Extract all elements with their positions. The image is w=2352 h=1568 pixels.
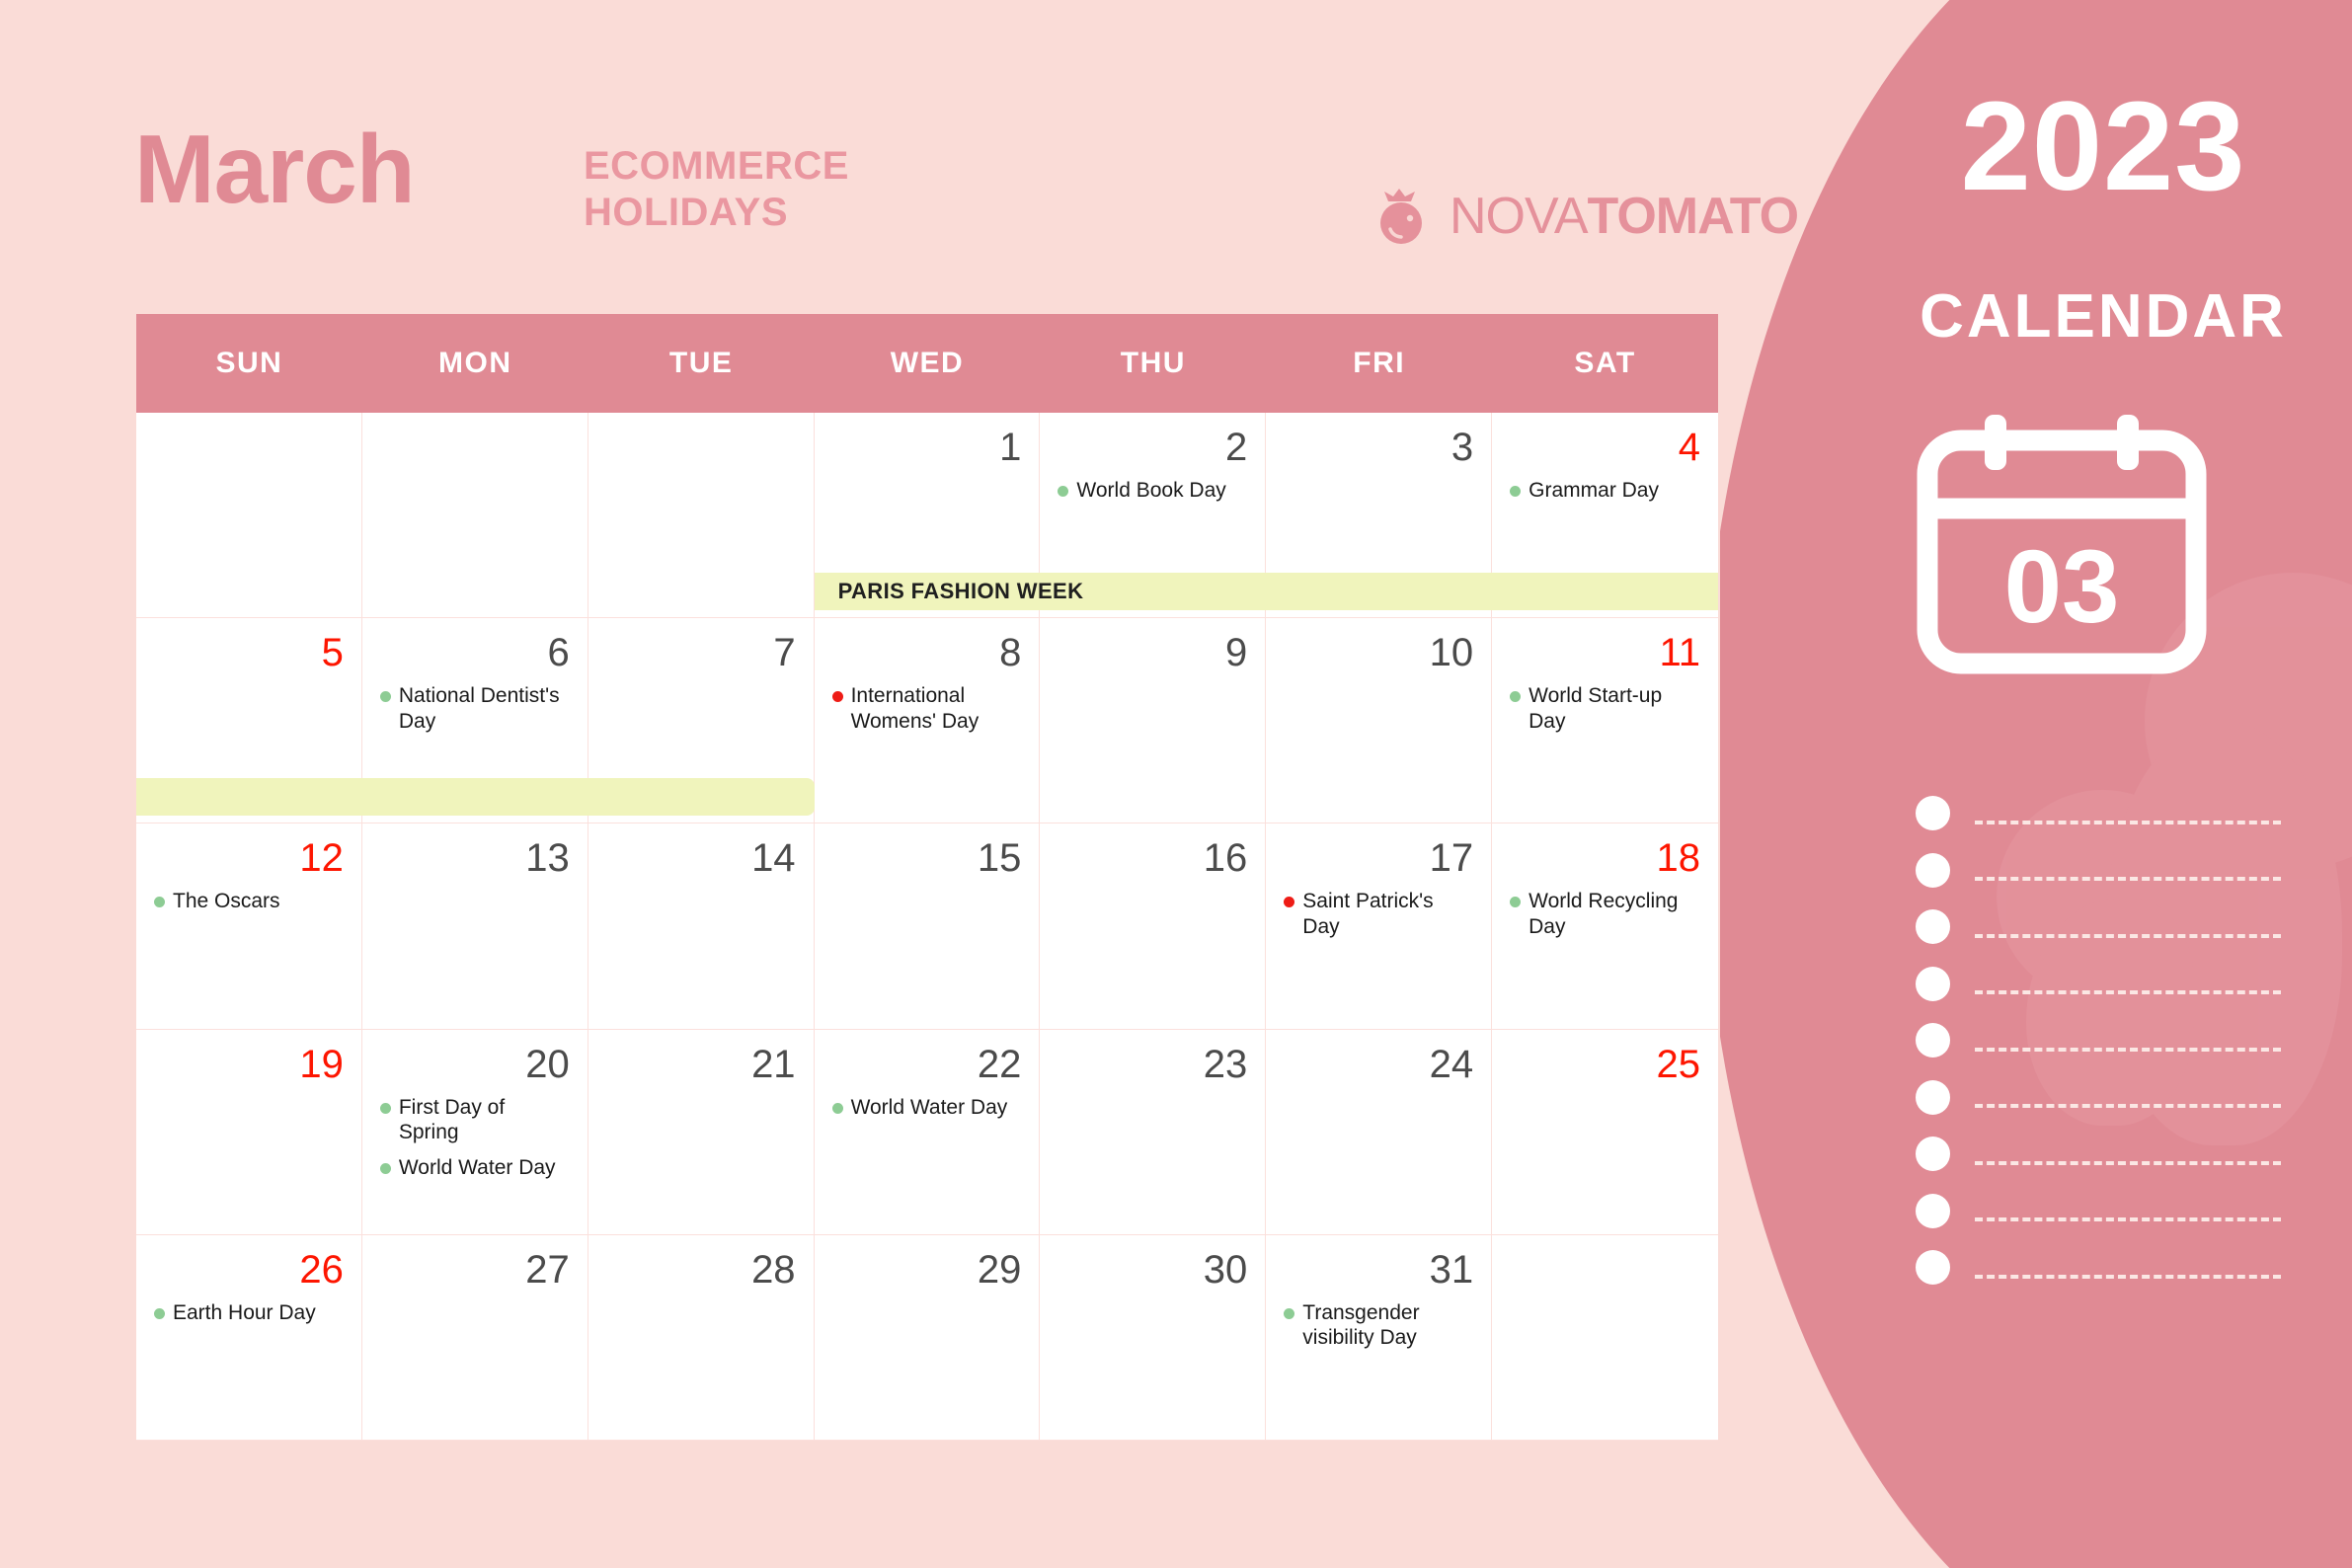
checkbox-circle-icon[interactable] [1916,796,1950,830]
weekday-header-row: SUN MON TUE WED THU FRI SAT [136,314,1718,413]
calendar-day-cell[interactable]: 23 [1040,1030,1266,1235]
weekday-mon: MON [362,314,588,413]
brand-text: NOVATOMATO [1450,191,1798,242]
checklist-item[interactable] [1916,899,2281,956]
day-number: 27 [380,1249,570,1291]
checklist-line [1975,1161,2281,1165]
checklist-line [1975,877,2281,881]
calendar-day-cell[interactable]: 30 [1040,1235,1266,1441]
event-bullet-icon [1510,897,1521,907]
event-label: World Water Day [399,1155,556,1181]
calendar-day-cell[interactable]: 12The Oscars [136,823,362,1029]
checklist-item[interactable] [1916,1239,2281,1296]
calendar-event[interactable]: Earth Hour Day [154,1300,344,1326]
page-subtitle: ECOMMERCE HOLIDAYS [584,143,849,236]
subtitle-line-2: HOLIDAYS [584,190,849,236]
checklist-line [1975,821,2281,824]
day-number: 8 [832,632,1022,673]
event-label: Earth Hour Day [173,1300,316,1326]
weekday-thu: THU [1040,314,1266,413]
day-number: 16 [1058,837,1247,879]
event-label: World Book Day [1076,478,1225,504]
checkbox-circle-icon[interactable] [1916,1080,1950,1115]
day-number: 25 [1510,1044,1700,1085]
day-number: 7 [606,632,796,673]
day-number: 20 [380,1044,570,1085]
calendar-event[interactable]: World Water Day [380,1155,570,1181]
calendar-week-row: 1920First Day of SpringWorld Water Day21… [136,1030,1718,1235]
day-number: 1 [832,427,1022,468]
event-label: World Start-up Day [1529,683,1700,734]
calendar-icon-month-number: 03 [2004,529,2120,645]
event-label: World Water Day [851,1095,1008,1121]
calendar-empty-cell [362,413,588,618]
event-bullet-icon [380,1103,391,1114]
day-number: 6 [380,632,570,673]
event-bullet-icon [1058,486,1068,497]
day-number: 18 [1510,837,1700,879]
event-bullet-icon [1510,486,1521,497]
checklist-line [1975,990,2281,994]
event-bullet-icon [380,691,391,702]
calendar-day-cell[interactable]: 28 [588,1235,815,1441]
day-number: 24 [1284,1044,1473,1085]
event-label: National Dentist's Day [399,683,570,734]
checkbox-circle-icon[interactable] [1916,1137,1950,1171]
event-bullet-icon [832,691,843,702]
brand-name-bold: TOMATO [1588,188,1799,245]
day-number: 11 [1510,632,1700,673]
checkbox-circle-icon[interactable] [1916,1194,1950,1228]
calendar-day-cell[interactable]: 26Earth Hour Day [136,1235,362,1441]
checklist-item[interactable] [1916,1126,2281,1183]
day-events: National Dentist's Day [380,683,570,734]
day-number: 21 [606,1044,796,1085]
checkbox-circle-icon[interactable] [1916,853,1950,888]
calendar-day-cell[interactable]: 17Saint Patrick's Day [1266,823,1492,1029]
page-title: March [134,120,415,217]
calendar-day-cell[interactable]: 16 [1040,823,1266,1029]
day-number: 19 [154,1044,344,1085]
day-number: 9 [1058,632,1247,673]
event-bullet-icon [1510,691,1521,702]
calendar-empty-cell [136,413,362,618]
event-label: The Oscars [173,889,280,914]
event-label: Saint Patrick's Day [1302,889,1473,939]
weekday-tue: TUE [588,314,815,413]
day-events: Earth Hour Day [154,1300,344,1326]
calendar-event[interactable]: National Dentist's Day [380,683,570,734]
calendar-day-cell[interactable]: 27 [362,1235,588,1441]
calendar-poster: 2023 CALENDAR 03 March ECOMMERCE [0,0,2352,1568]
calendar-week-row: 26Earth Hour Day2728293031Transgender vi… [136,1235,1718,1441]
event-label: Grammar Day [1529,478,1659,504]
day-number: 31 [1284,1249,1473,1291]
checkbox-circle-icon[interactable] [1916,967,1950,1001]
checklist-item[interactable] [1916,1183,2281,1240]
day-events: World Start-up Day [1510,683,1700,734]
day-events: World Recycling Day [1510,889,1700,939]
calendar-weeks: 12World Book Day34Grammar Day56National … [136,413,1718,1441]
year-label: 2023 [1896,84,2311,210]
day-number: 17 [1284,837,1473,879]
subtitle-line-1: ECOMMERCE [584,143,849,190]
checklist-item[interactable] [1916,956,2281,1013]
event-bullet-icon [154,897,165,907]
calendar-day-cell[interactable]: 22World Water Day [815,1030,1041,1235]
calendar-day-cell[interactable]: 18World Recycling Day [1492,823,1718,1029]
event-label: First Day of Spring [399,1095,570,1145]
calendar-grid: SUN MON TUE WED THU FRI SAT 12World Book… [136,314,1718,1441]
calendar-day-cell[interactable]: 10 [1266,618,1492,823]
day-number: 14 [606,837,796,879]
day-number: 30 [1058,1249,1247,1291]
calendar-event[interactable]: First Day of Spring [380,1095,570,1145]
checkbox-circle-icon[interactable] [1916,1023,1950,1058]
day-number: 15 [832,837,1022,879]
multiday-event-bar[interactable] [136,778,815,816]
day-events: World Book Day [1058,478,1247,504]
weekday-wed: WED [815,314,1041,413]
calendar-event[interactable]: International Womens' Day [832,683,1022,734]
day-number: 13 [380,837,570,879]
calendar-icon: 03 [1914,413,2210,677]
day-number: 3 [1284,427,1473,468]
calendar-day-cell[interactable]: 29 [815,1235,1041,1441]
weekday-sun: SUN [136,314,362,413]
checklist-item[interactable] [1916,785,2281,842]
event-bullet-icon [154,1308,165,1319]
weekday-sat: SAT [1492,314,1718,413]
calendar-day-cell[interactable]: 20First Day of SpringWorld Water Day [362,1030,588,1235]
event-bullet-icon [1284,897,1294,907]
checklist [1916,785,2281,1296]
checklist-item[interactable] [1916,1012,2281,1069]
day-number: 23 [1058,1044,1247,1085]
checklist-item[interactable] [1916,1069,2281,1127]
day-number: 28 [606,1249,796,1291]
day-events: Saint Patrick's Day [1284,889,1473,939]
checklist-line [1975,1275,2281,1279]
day-events: World Water Day [832,1095,1022,1121]
calendar-day-cell[interactable]: 13 [362,823,588,1029]
calendar-day-cell[interactable]: 14 [588,823,815,1029]
calendar-event[interactable]: Transgender visibility Day [1284,1300,1473,1351]
multiday-event-label: PARIS FASHION WEEK [838,579,1084,604]
brand-name-light: NOVA [1450,188,1588,245]
calendar-day-cell[interactable]: 21 [588,1030,815,1235]
calendar-day-cell[interactable]: 31Transgender visibility Day [1266,1235,1492,1441]
checklist-line [1975,1217,2281,1221]
checkbox-circle-icon[interactable] [1916,1250,1950,1285]
checklist-item[interactable] [1916,842,2281,900]
day-number: 29 [832,1249,1022,1291]
day-events: International Womens' Day [832,683,1022,734]
calendar-day-cell[interactable]: 8International Womens' Day [815,618,1041,823]
calendar-event[interactable]: World Book Day [1058,478,1247,504]
weekday-fri: FRI [1266,314,1492,413]
calendar-event[interactable]: World Recycling Day [1510,889,1700,939]
event-bullet-icon [1284,1308,1294,1319]
calendar-word-label: CALENDAR [1896,286,2311,348]
calendar-event[interactable]: World Start-up Day [1510,683,1700,734]
calendar-day-cell[interactable]: 11World Start-up Day [1492,618,1718,823]
multiday-event-bar[interactable]: PARIS FASHION WEEK [815,573,1718,610]
checkbox-circle-icon[interactable] [1916,909,1950,944]
checklist-line [1975,1104,2281,1108]
day-number: 12 [154,837,344,879]
brand-logo: NOVATOMATO [1372,186,1798,247]
checklist-line [1975,1048,2281,1052]
day-events: First Day of SpringWorld Water Day [380,1095,570,1181]
calendar-event[interactable]: World Water Day [832,1095,1022,1121]
checklist-line [1975,934,2281,938]
calendar-day-cell[interactable]: 9 [1040,618,1266,823]
calendar-day-cell[interactable]: 15 [815,823,1041,1029]
calendar-day-cell[interactable]: 19 [136,1030,362,1235]
day-events: Transgender visibility Day [1284,1300,1473,1351]
day-number: 5 [154,632,344,673]
calendar-empty-cell [588,413,815,618]
day-number: 10 [1284,632,1473,673]
day-events: The Oscars [154,889,344,914]
calendar-event[interactable]: Grammar Day [1510,478,1700,504]
event-label: Transgender visibility Day [1302,1300,1473,1351]
calendar-event[interactable]: Saint Patrick's Day [1284,889,1473,939]
tomato-icon [1372,186,1434,247]
calendar-week-row: 12The Oscars1314151617Saint Patrick's Da… [136,823,1718,1029]
day-number: 4 [1510,427,1700,468]
calendar-event[interactable]: The Oscars [154,889,344,914]
event-label: World Recycling Day [1529,889,1700,939]
event-bullet-icon [832,1103,843,1114]
calendar-day-cell[interactable]: 24 [1266,1030,1492,1235]
calendar-day-cell[interactable]: 25 [1492,1030,1718,1235]
day-number: 26 [154,1249,344,1291]
day-events: Grammar Day [1510,478,1700,504]
day-number: 2 [1058,427,1247,468]
calendar-empty-cell [1492,1235,1718,1441]
event-bullet-icon [380,1163,391,1174]
event-label: International Womens' Day [851,683,1022,734]
day-number: 22 [832,1044,1022,1085]
